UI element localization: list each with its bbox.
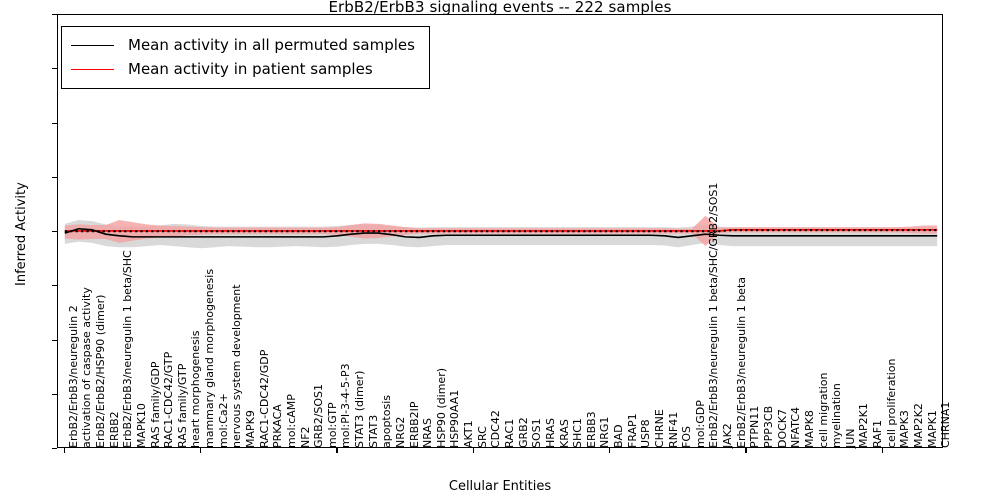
- x-tick-label: SRC: [477, 426, 488, 448]
- x-tick-label: ErbB2/ErbB3/neuregulin 1 beta/SHC: [122, 250, 133, 448]
- x-tick-label: RAF1: [872, 420, 883, 448]
- x-tick-label: JAK2: [722, 423, 733, 448]
- x-tick-label: myelination: [831, 383, 842, 448]
- x-tick-label: mol:PI-3-4-5-P3: [340, 363, 351, 448]
- x-tick-label: RNF41: [668, 412, 679, 448]
- x-tick-label: FOS: [681, 426, 692, 448]
- x-tick-label: ErbB2/ErbB3/neuregulin 1 beta/SHC/GRB2/S…: [708, 183, 719, 448]
- x-tick-label: ERBB2: [109, 411, 120, 448]
- x-tick-label: ErbB2/ErbB3/neuregulin 1 beta: [736, 277, 747, 448]
- x-tick-label: MAPK9: [245, 410, 256, 448]
- x-tick-label: BAD: [613, 424, 624, 448]
- x-tick-label: MAP2K2: [913, 403, 924, 448]
- x-tick-label: STAT3: [368, 415, 379, 448]
- x-tick-label: STAT3 (dimer): [354, 371, 365, 448]
- x-tick-label: SOS1: [531, 418, 542, 448]
- y-axis-label: Inferred Activity: [14, 182, 29, 286]
- x-tick-label: mol:GTP: [327, 402, 338, 448]
- x-tick-label: HSP90 (dimer): [436, 368, 447, 448]
- x-tick-label: GRB2: [518, 417, 529, 448]
- x-tick-label: PRKACA: [272, 404, 283, 448]
- x-tick-label: CHRNE: [654, 409, 665, 448]
- x-tick-label: HRAS: [545, 418, 556, 448]
- x-tick-label: CDC42: [490, 410, 501, 448]
- x-tick-label: nervous system development: [231, 284, 242, 448]
- x-tick-label: MAPK1: [927, 410, 938, 448]
- x-tick-label: MAP2K1: [858, 403, 869, 448]
- x-tick-label: ErbB2/ErbB2/HSP90 (dimer): [95, 295, 106, 448]
- legend-swatch-permuted: [71, 45, 114, 46]
- x-tick-label: mammary gland morphogenesis: [204, 269, 215, 448]
- legend-swatch-patient: [71, 69, 114, 70]
- x-tick-label: USP8: [640, 419, 651, 448]
- x-tick-label: GRB2/SOS1: [313, 384, 324, 448]
- x-tick-label: NF2: [300, 426, 311, 448]
- x-tick-label: NFATC4: [790, 407, 801, 448]
- legend-item: Mean activity in all permuted samples: [71, 33, 415, 57]
- x-tick-label: SHC1: [572, 418, 583, 448]
- x-tick-label: RAC1-CDC42/GTP: [163, 352, 174, 448]
- x-tick-label: FRAP1: [627, 413, 638, 448]
- x-tick-label: mol:Ca2+: [218, 393, 229, 448]
- x-tick-label: NRAS: [422, 418, 433, 448]
- x-tick-label: RAC1-CDC42/GDP: [259, 350, 270, 448]
- x-tick-label: RAC1: [504, 419, 515, 448]
- x-tick-label: mol:GDP: [695, 400, 706, 448]
- x-tick-label: ERBB2IP: [409, 401, 420, 448]
- x-tick-label: activation of caspase activity: [81, 287, 92, 448]
- x-tick-label: MAPK3: [899, 410, 910, 448]
- x-tick-label: KRAS: [559, 419, 570, 448]
- legend-label-permuted: Mean activity in all permuted samples: [128, 36, 415, 54]
- x-tick-label: apoptosis: [381, 395, 392, 448]
- x-tick-label: PTPN11: [749, 406, 760, 448]
- x-tick-label: PPP3CB: [763, 406, 774, 448]
- legend-label-patient: Mean activity in patient samples: [128, 60, 373, 78]
- x-axis-label: Cellular Entities: [0, 479, 1000, 494]
- x-tick-label: NRG2: [395, 417, 406, 448]
- x-tick-label: mol:cAMP: [286, 394, 297, 448]
- legend-item: Mean activity in patient samples: [71, 57, 415, 81]
- x-tick-label: cell migration: [818, 372, 829, 448]
- x-tick-label: JUN: [845, 428, 856, 448]
- x-tick-label: AKT1: [463, 420, 474, 448]
- x-tick-label: heart morphogenesis: [190, 331, 201, 448]
- x-tick-label: RAS family/GDP: [150, 362, 161, 449]
- figure: ErbB2/ErbB3 signaling events -- 222 samp…: [0, 0, 1000, 500]
- x-tick-label: CHRNA1: [940, 402, 951, 448]
- x-tick-label: ERBB3: [586, 411, 597, 448]
- x-tick-label: HSP90AA1: [449, 390, 460, 448]
- x-tick-label: NRG1: [599, 417, 610, 448]
- legend: Mean activity in all permuted samples Me…: [61, 26, 430, 89]
- x-tick-label: cell proliferation: [886, 358, 897, 448]
- x-tick-label: MAPK10: [136, 403, 147, 448]
- x-tick-label: ErbB2/ErbB3/neuregulin 2: [68, 305, 79, 448]
- x-tick-label: RAS family/GTP: [177, 364, 188, 448]
- x-tick-label: MAPK8: [804, 410, 815, 448]
- x-tick-label: DOCK7: [777, 409, 788, 448]
